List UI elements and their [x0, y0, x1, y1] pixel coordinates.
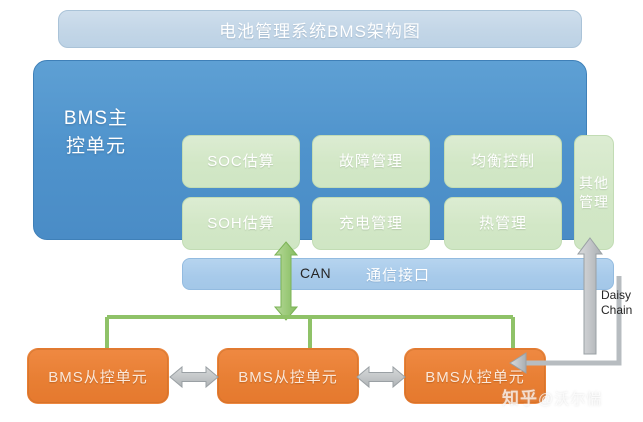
slave-link-arrow-2-3-icon: [356, 364, 406, 390]
watermark-handle: @沃尔惴: [538, 391, 602, 408]
daisy-chain-label-line2: Chain: [601, 303, 632, 318]
diagram-title-bar: 电池管理系统BMS架构图: [58, 10, 582, 48]
module-balance-control[interactable]: 均衡控制: [444, 135, 562, 188]
page-title: 电池管理系统BMS架构图: [219, 17, 421, 42]
bms-master-unit-label-line2: 控单元: [44, 133, 148, 161]
module-other-management[interactable]: 其他管理: [574, 135, 614, 250]
daisy-chain-label-line1: Daisy: [601, 288, 632, 303]
module-charge-management[interactable]: 充电管理: [312, 197, 430, 250]
daisy-chain-label: Daisy Chain: [601, 288, 632, 318]
zhihu-watermark: 知乎@沃尔惴: [502, 384, 602, 409]
module-fault-management[interactable]: 故障管理: [312, 135, 430, 188]
bms-architecture-diagram: 电池管理系统BMS架构图 BMS主 控单元 SOC估算 故障管理 均衡控制 SO…: [0, 0, 643, 422]
watermark-site: 知乎: [502, 389, 538, 408]
bms-master-unit-label-line1: BMS主: [44, 105, 148, 133]
bms-slave-unit-1[interactable]: BMS从控单元: [27, 348, 169, 404]
bms-master-unit-label: BMS主 控单元: [44, 105, 148, 161]
can-bus-label: CAN: [300, 265, 331, 281]
slave-link-arrow-1-2-icon: [169, 364, 219, 390]
module-soc-estimation[interactable]: SOC估算: [182, 135, 300, 188]
bms-slave-unit-2[interactable]: BMS从控单元: [217, 348, 359, 404]
bms-master-unit: BMS主 控单元 SOC估算 故障管理 均衡控制 SOH估算 充电管理 热管理 …: [33, 60, 587, 240]
